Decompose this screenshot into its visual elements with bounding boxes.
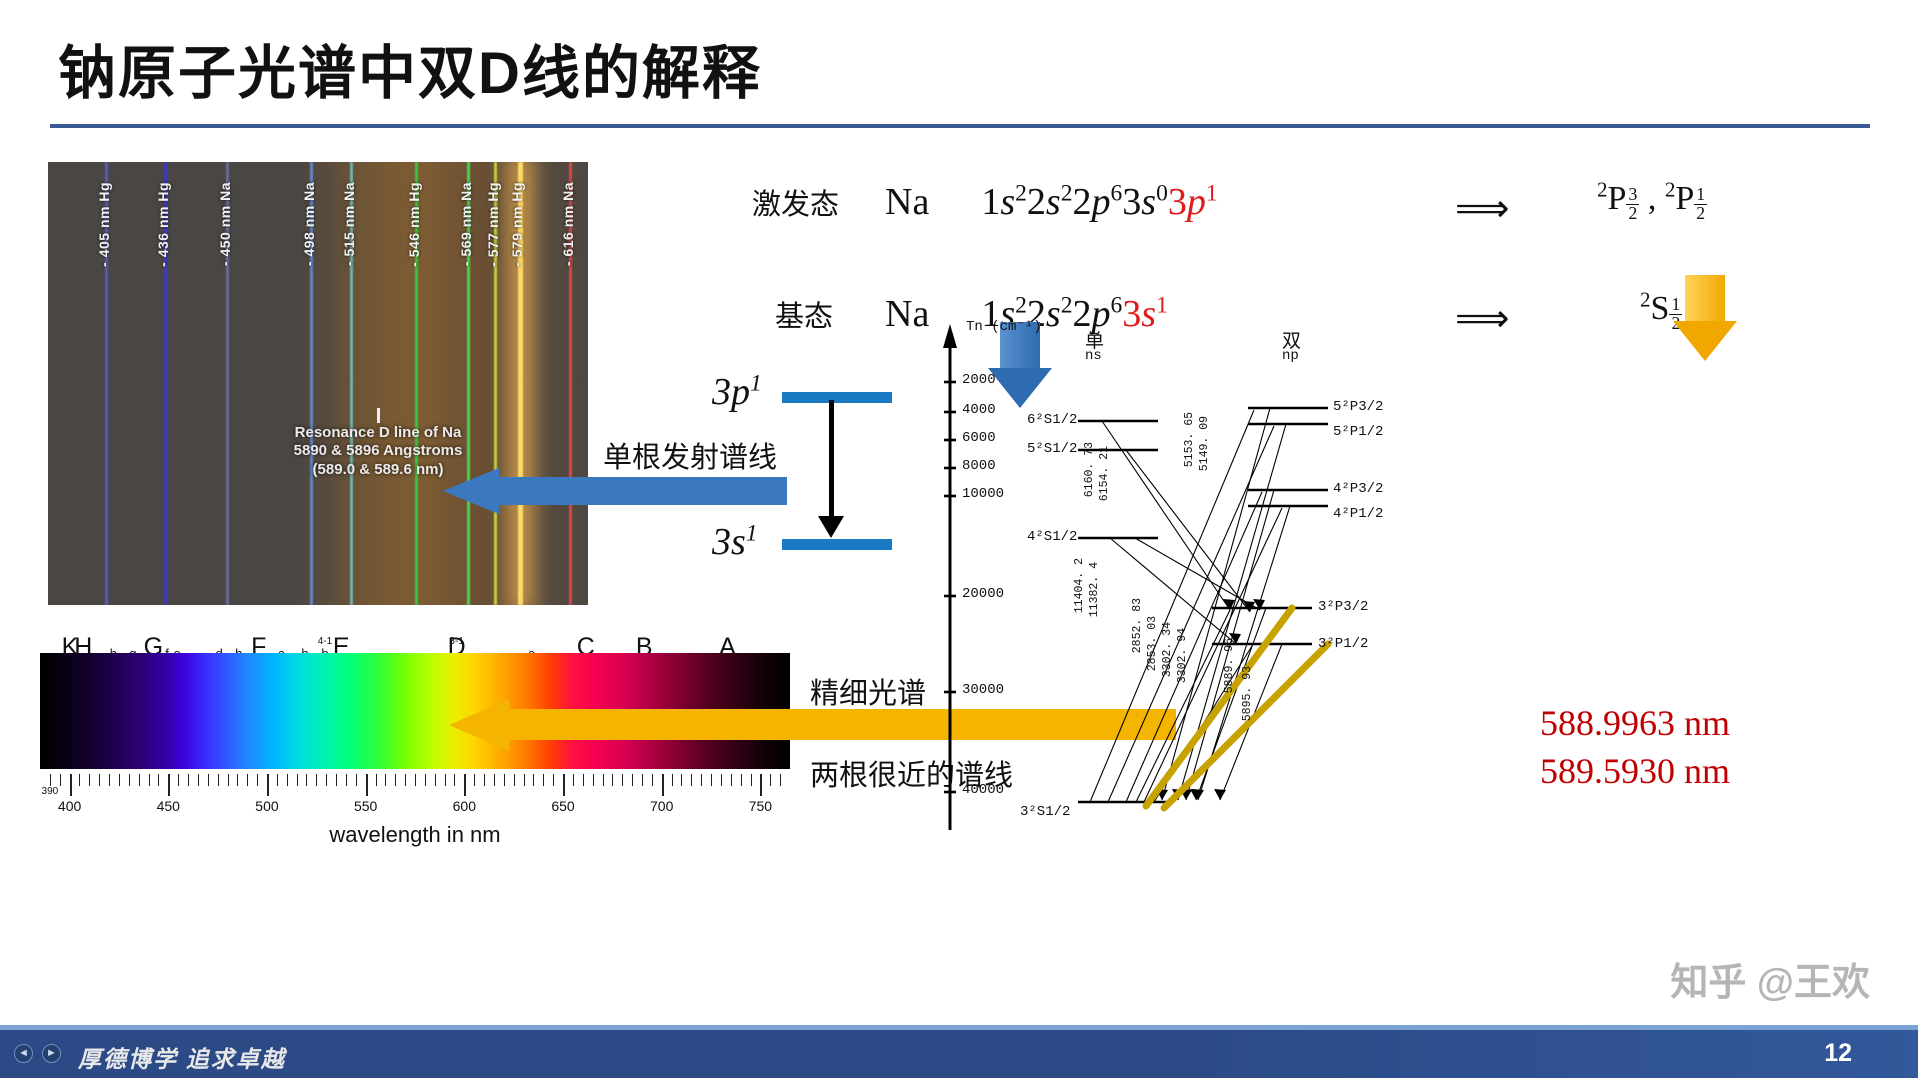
wavelength-minor-tick [346,774,347,786]
level-5s-label: 5²S1/2 [1027,441,1077,457]
emission-line-label: - 436 nm Hg [155,182,171,267]
wavelength-minor-tick [395,774,396,786]
d-line-values: 588.9963 nm 589.5930 nm [1540,700,1730,795]
emission-line-label: - 498 nm Na [301,182,317,266]
energy-tick-8000: 8000 [962,458,996,474]
single-line-annotation: 单根发射谱线 [603,434,777,476]
excited-state-element: Na [885,181,929,223]
emission-line-label: - 616 nm Na [560,182,576,266]
emission-transition-arrowhead [818,516,844,538]
wavelength-minor-tick [632,774,633,786]
wavelength-minor-tick [198,774,199,786]
transition-label-6160: 6160. 73 [1083,442,1096,497]
wavelength-minor-tick [257,774,258,786]
wavelength-minor-tick [228,774,229,786]
wavelength-major-tick [464,774,466,796]
wavelength-minor-tick [119,774,120,786]
wavelength-minor-tick [237,774,238,786]
wavelength-minor-tick [425,774,426,786]
level-3p-bar [782,392,892,403]
wavelength-minor-tick [533,774,534,786]
transition-label-3302b: 3302. 94 [1176,628,1189,683]
ns-column-header-line2: ns [1085,348,1102,364]
level-3p12-label: 3²P1/2 [1318,636,1368,652]
excited-state-config: 1s22s22p63s03p1 [981,181,1217,223]
emission-transition-line [829,400,834,518]
wavelength-minor-tick [691,774,692,786]
resonance-tick [377,408,380,423]
page-title: 钠原子光谱中双D线的解释 [58,26,762,110]
wavelength-minor-tick [218,774,219,786]
transition-label-5149: 5149. 09 [1198,416,1211,471]
level-3s-ground-label: 3²S1/2 [1020,804,1070,820]
wavelength-minor-tick [297,774,298,786]
wavelength-minor-tick [642,774,643,786]
energy-tick-20000: 20000 [962,586,1004,602]
wavelength-minor-tick [287,774,288,786]
wavelength-minor-tick [731,774,732,786]
fraunhofer-spectrum: KHhgGfedhFchb4-1ED3-1aCBA 39040045050055… [40,626,790,856]
wavelength-minor-tick [178,774,179,786]
wavelength-axis-label: 400 [58,798,81,814]
transition-label-2853: 2853. 03 [1146,616,1159,671]
wavelength-axis-label: 450 [157,798,180,814]
resonance-caption-line1: Resonance D line of Na [168,424,588,442]
wavelength-minor-tick [711,774,712,786]
wavelength-minor-tick [583,774,584,786]
wavelength-axis-caption: wavelength in nm [40,822,790,848]
watermark: 知乎 @王欢 [1670,951,1870,1006]
emission-line-label: - 450 nm Na [217,182,233,266]
wavelength-minor-tick [494,774,495,786]
wavelength-major-tick [662,774,664,796]
wavelength-minor-tick [454,774,455,786]
nav-prev-icon[interactable]: ◄ [14,1044,33,1063]
emission-line-label: - 569 nm Na [458,182,474,266]
np-column-header-line2: np [1282,348,1299,364]
transition-label-11382: 11382. 4 [1088,562,1101,617]
wavelength-major-tick [366,774,368,796]
wavelength-axis-label: 700 [650,798,673,814]
level-6s-label: 6²S1/2 [1027,412,1077,428]
level-3p-label: 3p1 [712,370,762,414]
wavelength-major-tick [563,774,565,796]
energy-tick-30000: 30000 [962,682,1004,698]
level-5p12-label: 5²P1/2 [1333,424,1383,440]
wavelength-minor-tick [770,774,771,786]
grotrian-svg [930,320,1570,840]
wavelength-minor-tick [474,774,475,786]
wavelength-minor-tick [751,774,752,786]
resonance-caption: Resonance D line of Na 5890 & 5896 Angst… [48,424,588,479]
fine-spectrum-annotation: 精细光谱 [810,670,926,712]
wavelength-axis-label: 500 [255,798,278,814]
wavelength-minor-tick [741,774,742,786]
wavelength-minor-tick [109,774,110,786]
transition-label-5895: 5895. 93 [1241,666,1254,721]
emission-line-label: - 405 nm Hg [96,182,112,267]
title-divider [50,124,1870,128]
level-4p32-label: 4²P3/2 [1333,481,1383,497]
wavelength-minor-tick [672,774,673,786]
energy-tick-6000: 6000 [962,430,996,446]
wavelength-axis-label: 600 [453,798,476,814]
energy-tick-10000: 10000 [962,486,1004,502]
level-4p12-label: 4²P1/2 [1333,506,1383,522]
wavelength-minor-tick [336,774,337,786]
wavelength-minor-tick [435,774,436,786]
fraunhofer-letter: 4-1 [318,637,332,647]
wavelength-axis-label: 550 [354,798,377,814]
d-line-value-1: 588.9963 nm [1540,700,1730,748]
emission-line-label: - 577 nm Hg [485,182,501,267]
excited-state-label: 激发态 [752,189,839,221]
wavelength-minor-tick [612,774,613,786]
energy-tick-2000: 2000 [962,372,996,388]
excited-state-row: 激发态 Na 1s22s22p63s03p1 [752,180,1218,224]
orange-down-arrow-shaft [1685,275,1725,323]
wavelength-major-tick [70,774,72,796]
excited-state-arrow: ⟹ [1455,186,1509,231]
fraunhofer-letter: 3-1 [449,637,463,647]
blue-left-arrow-head [443,468,499,514]
ground-state-label: 基态 [775,301,833,333]
wavelength-minor-tick [701,774,702,786]
level-4s-label: 4²S1/2 [1027,529,1077,545]
wavelength-minor-tick [405,774,406,786]
wavelength-minor-tick [247,774,248,786]
footer-motto: 厚德博学 追求卓越 [78,1040,286,1074]
wavelength-minor-tick [89,774,90,786]
transition-label-2852: 2852. 83 [1131,598,1144,653]
wavelength-minor-tick [129,774,130,786]
wavelength-minor-tick [445,774,446,786]
wavelength-minor-tick [573,774,574,786]
wavelength-minor-tick [681,774,682,786]
wavelength-minor-tick [524,774,525,786]
wavelength-minor-tick [376,774,377,786]
emission-line-label: - 579 nm Hg [509,182,525,267]
wavelength-minor-tick [652,774,653,786]
d-line-value-2: 589.5930 nm [1540,748,1730,796]
wavelength-minor-tick [60,774,61,786]
wavelength-minor-tick [277,774,278,786]
wavelength-minor-tick [514,774,515,786]
wavelength-minor-tick [543,774,544,786]
wavelength-axis-label: 390 [42,786,59,797]
resonance-caption-line2: 5890 & 5896 Angstroms [168,442,588,460]
level-3s-bar [782,539,892,550]
wavelength-minor-tick [484,774,485,786]
transition-label-6154: 6154. 21 [1098,446,1111,501]
wavelength-minor-tick [721,774,722,786]
grotrian-diagram: Tn (cm⁻¹) 2000 4000 6000 8000 10000 2000… [930,320,1570,840]
energy-tick-4000: 4000 [962,402,996,418]
wavelength-minor-tick [356,774,357,786]
wavelength-minor-tick [79,774,80,786]
wavelength-major-tick [267,774,269,796]
wavelength-minor-tick [158,774,159,786]
energy-tick-40000: 40000 [962,782,1004,798]
transition-label-5153: 5153. 65 [1183,412,1196,467]
transition-label-3302a: 3302. 34 [1161,622,1174,677]
wavelength-minor-tick [50,774,51,786]
ground-state-element: Na [885,293,929,335]
blue-left-arrow-shaft [497,477,787,505]
wavelength-minor-tick [326,774,327,786]
wavelength-minor-tick [593,774,594,786]
level-3p32-label: 3²P3/2 [1318,599,1368,615]
wavelength-minor-tick [316,774,317,786]
level-3s-label: 3s1 [712,520,758,564]
energy-axis-title: Tn (cm⁻¹) [966,318,1042,335]
wavelength-minor-tick [553,774,554,786]
wavelength-minor-tick [603,774,604,786]
wavelength-minor-tick [306,774,307,786]
wavelength-axis-label: 750 [749,798,772,814]
page-number: 12 [1824,1039,1852,1068]
orange-down-arrow-head [1673,321,1737,361]
wavelength-minor-tick [385,774,386,786]
emission-spectrum-photo: - 405 nm Hg- 436 nm Hg- 450 nm Na- 498 n… [48,162,588,605]
wavelength-axis-label: 650 [551,798,574,814]
level-5p32-label: 5²P3/2 [1333,399,1383,415]
wavelength-major-tick [168,774,170,796]
nav-next-icon[interactable]: ► [42,1044,61,1063]
wavelength-minor-tick [149,774,150,786]
wavelength-minor-tick [504,774,505,786]
orange-left-arrow-head [449,699,509,751]
slide-footer: ◄ ► 厚德博学 追求卓越 12 [0,1030,1918,1078]
wavelength-minor-tick [208,774,209,786]
wavelength-minor-tick [188,774,189,786]
wavelength-minor-tick [622,774,623,786]
emission-line-label: - 515 nm Na [341,182,357,266]
wavelength-axis: 390400450500550600650700750 [40,774,790,826]
wavelength-minor-tick [139,774,140,786]
transition-label-5889: 5889. 96 [1223,638,1236,693]
wavelength-minor-tick [415,774,416,786]
wavelength-minor-tick [99,774,100,786]
wavelength-minor-tick [780,774,781,786]
excited-state-terms: 2P32 , 2P12 [1597,178,1707,223]
wavelength-major-tick [760,774,762,796]
transition-label-11404: 11404. 2 [1073,558,1086,613]
emission-line-label: - 546 nm Hg [406,182,422,267]
